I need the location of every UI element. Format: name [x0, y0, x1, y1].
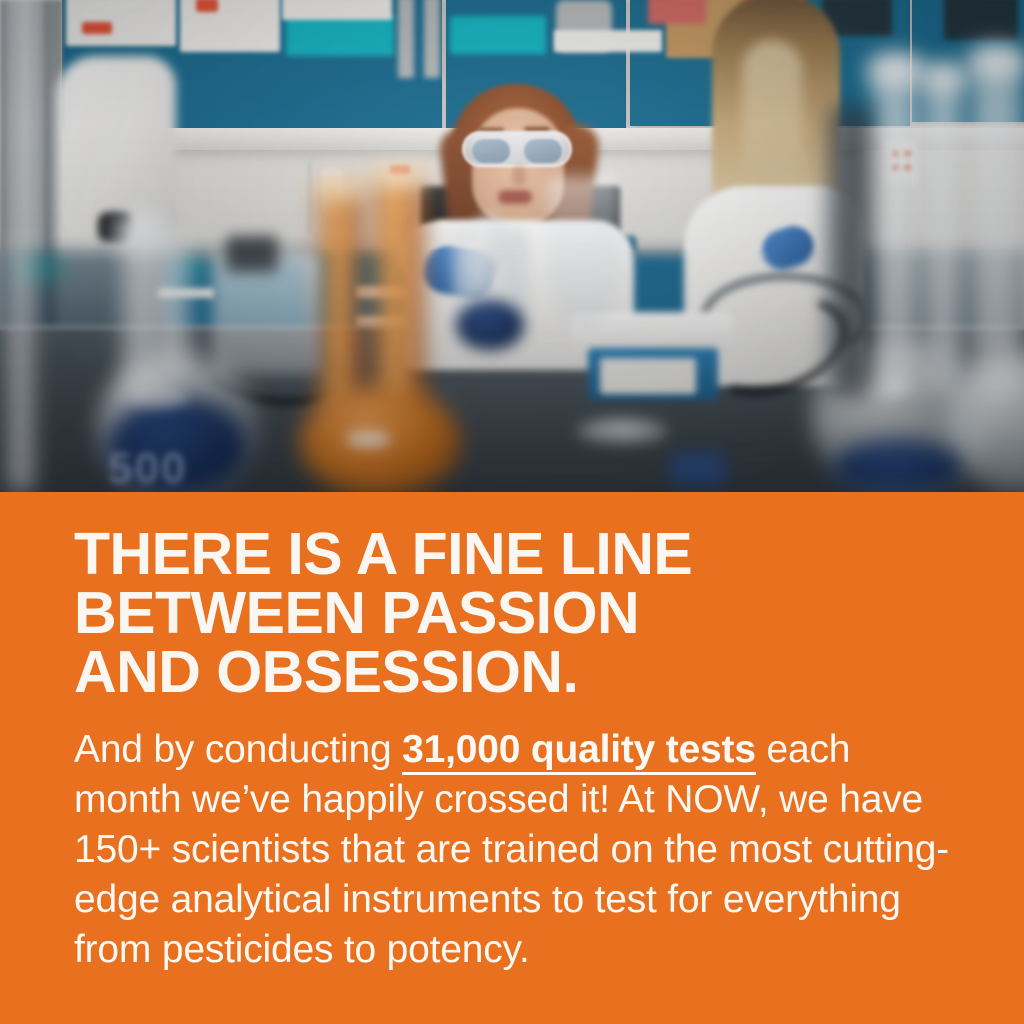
fg-amber-cap-1	[316, 176, 366, 198]
fg-dark-column-right	[828, 106, 872, 396]
fg-glass-column-2-cap	[920, 62, 968, 92]
shelf-teal-tray-1	[286, 14, 394, 56]
shelf-teal-tray-2	[450, 16, 546, 54]
fg-stand-left	[8, 240, 34, 492]
body-copy: And by conducting 31,000 quality tests e…	[74, 725, 954, 975]
fg-glass-column-3	[972, 56, 1024, 394]
shelf-label-2	[196, 0, 218, 12]
held-flask-neck	[478, 214, 500, 274]
shelf-divider-1	[398, 0, 414, 78]
shelf-box-3	[282, 0, 392, 20]
shelf-box-4	[554, 30, 662, 52]
goggle-lens-right	[524, 139, 562, 163]
analytical-balance-panel	[600, 358, 696, 394]
fg-blue-item-bottom-left	[670, 452, 726, 486]
shelf-label-1	[82, 22, 112, 34]
fg-amber-column-1	[318, 186, 364, 418]
fg-flask-right-blue-liquid	[832, 440, 962, 492]
scientist-center-nose	[512, 166, 526, 186]
fg-glass-column-3-cap	[968, 44, 1024, 78]
fg-amber-highlight	[346, 430, 390, 448]
orange-copy-panel: THERE IS A FINE LINE BETWEEN PASSION AND…	[0, 492, 1024, 1024]
shelf-box-2	[180, 0, 280, 52]
safety-goggles	[462, 131, 572, 167]
shelf-divider-2	[424, 0, 440, 78]
fg-erlenmeyer-mid	[548, 176, 620, 326]
flask-500-volume-label: 500	[108, 444, 187, 492]
fg-amber-cap-2	[370, 164, 428, 186]
headline: THERE IS A FINE LINE BETWEEN PASSION AND…	[74, 525, 974, 702]
goggle-lens-left	[472, 139, 510, 163]
headline-line-2: BETWEEN PASSION	[74, 584, 974, 643]
fg-flask-500-highlight	[130, 386, 188, 408]
lab-photo: 500	[0, 0, 1024, 492]
shelf-item-5	[648, 0, 706, 24]
held-flask-blue-liquid	[456, 300, 524, 350]
body-copy-before: And by conducting	[74, 728, 402, 771]
fg-wash-bottle	[226, 236, 278, 272]
headline-line-1: THERE IS A FINE LINE	[74, 525, 974, 584]
fg-amber-column-2	[372, 176, 426, 416]
scientist-center-mouth	[498, 190, 532, 204]
petri-dish	[576, 418, 668, 444]
headline-line-3: AND OBSESSION.	[74, 643, 974, 702]
retort-rod-1	[306, 160, 311, 232]
shelf-item-8	[944, 0, 1018, 40]
fg-glass-column-1-cap	[868, 52, 924, 86]
quality-tests-emphasis: 31,000 quality tests	[402, 728, 756, 775]
social-graphic-card: 500 THERE IS A FINE LINE BETWEEN	[0, 0, 1024, 1024]
